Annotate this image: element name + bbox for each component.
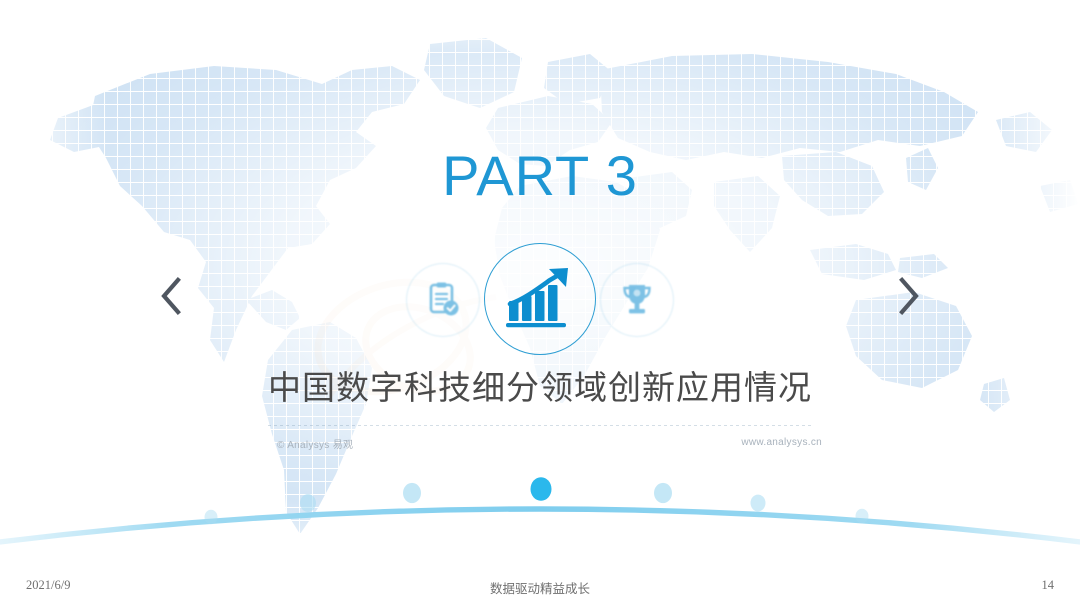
- section-title: 中国数字科技细分领域创新应用情况: [0, 370, 1080, 406]
- chevron-right-icon: [896, 276, 922, 316]
- progress-dot[interactable]: [403, 483, 421, 503]
- title-divider: [268, 425, 812, 426]
- chevron-left-icon: [158, 276, 184, 316]
- slide-canvas: PART 3: [0, 0, 1080, 608]
- bar-chart-growth-icon: [484, 243, 596, 355]
- footer-page-number: 14: [1042, 578, 1055, 593]
- icon-cluster: [410, 243, 670, 355]
- progress-dot[interactable]: [654, 483, 672, 503]
- next-slide-button[interactable]: [886, 271, 932, 321]
- slide-progress-arc[interactable]: [0, 455, 1080, 560]
- document-check-icon: [406, 263, 480, 337]
- trophy-icon: [600, 263, 674, 337]
- footer-slogan: 数据驱动精益成长: [0, 578, 1080, 597]
- progress-dot[interactable]: [205, 510, 218, 525]
- copyright-text: © Analysys 易观: [277, 436, 353, 451]
- progress-dot[interactable]: [751, 495, 766, 512]
- prev-slide-button[interactable]: [148, 271, 194, 321]
- website-url: www.analysys.cn: [741, 437, 822, 448]
- part-title: PART 3: [0, 148, 1080, 204]
- progress-dot[interactable]: [856, 509, 869, 524]
- progress-dot[interactable]: [300, 494, 316, 512]
- progress-dot-active[interactable]: [531, 477, 552, 501]
